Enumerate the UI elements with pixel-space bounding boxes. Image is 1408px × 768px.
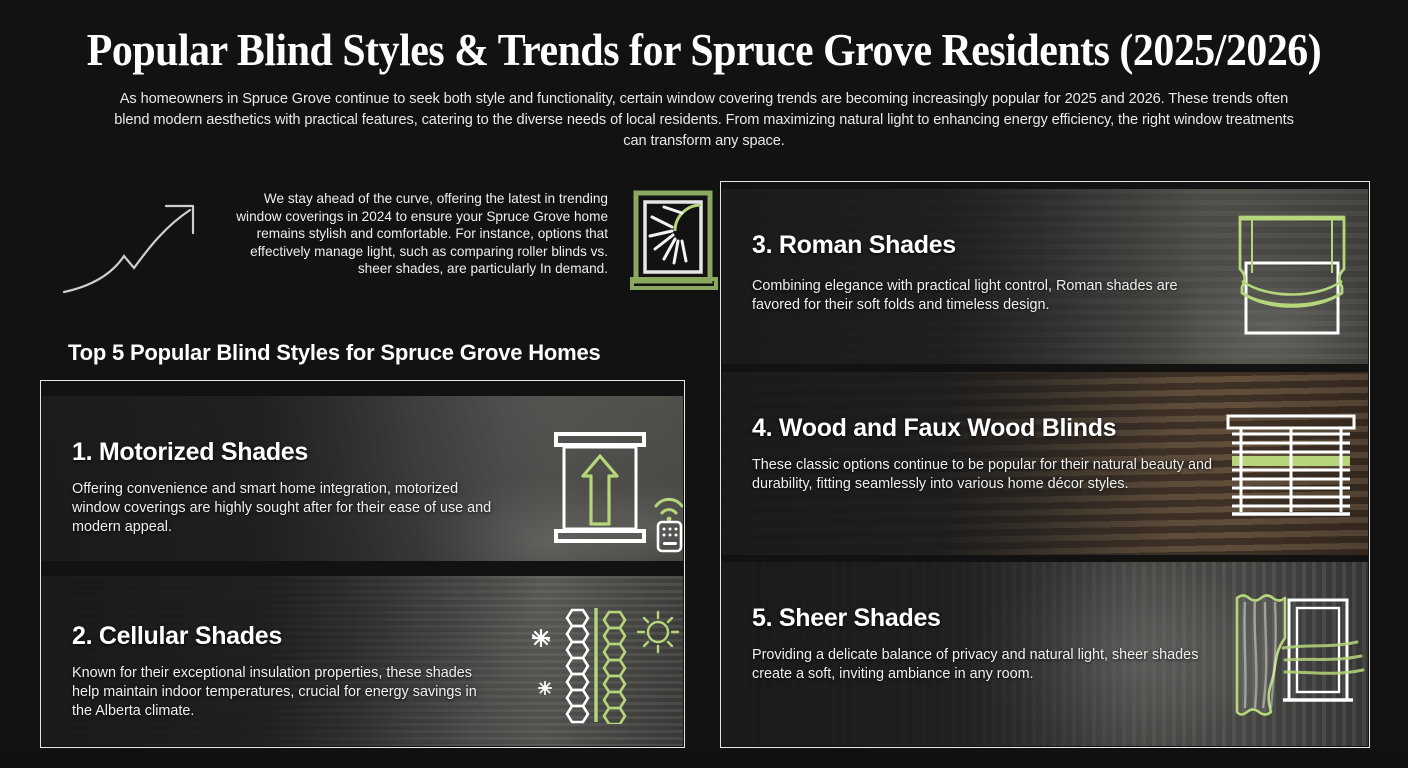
motorized-shade-remote-icon: [542, 428, 683, 553]
page-title: Popular Blind Styles & Trends for Spruce…: [49, 24, 1358, 76]
card-cellular-shades[interactable]: 2. Cellular Shades Known for their excep…: [42, 576, 683, 746]
header: Popular Blind Styles & Trends for Spruce…: [0, 0, 1408, 170]
card-title: 3. Roman Shades: [752, 231, 956, 260]
sheer-curtain-breeze-icon: [1227, 586, 1368, 721]
page-subtitle: As homeowners in Spruce Grove continue t…: [104, 89, 1304, 152]
card-description: Combining elegance with practical light …: [752, 277, 1182, 315]
card-title: 2. Cellular Shades: [72, 622, 282, 651]
card-title: 5. Sheer Shades: [752, 604, 941, 633]
honeycomb-cell-insulation-icon: [527, 604, 683, 724]
bottom-bar: [0, 748, 1408, 768]
card-title: 1. Motorized Shades: [72, 438, 308, 467]
card-wood-faux-wood-blinds[interactable]: 4. Wood and Faux Wood Blinds These class…: [722, 372, 1368, 555]
infographic-page: Popular Blind Styles & Trends for Spruce…: [0, 0, 1408, 768]
section-heading: Top 5 Popular Blind Styles for Spruce Gr…: [68, 340, 601, 366]
card-description: These classic options continue to be pop…: [752, 456, 1212, 494]
intro-text: We stay ahead of the curve, offering the…: [216, 190, 608, 278]
card-description: Offering convenience and smart home inte…: [72, 480, 492, 537]
intro-section: We stay ahead of the curve, offering the…: [40, 182, 690, 312]
card-sheer-shades[interactable]: 5. Sheer Shades Providing a delicate bal…: [722, 562, 1368, 746]
card-description: Providing a delicate balance of privacy …: [752, 646, 1202, 684]
card-motorized-shades[interactable]: 1. Motorized Shades Offering convenience…: [42, 396, 683, 561]
roman-shade-icon: [1222, 211, 1368, 341]
card-title: 4. Wood and Faux Wood Blinds: [752, 414, 1116, 443]
trend-arrow-icon: [62, 190, 212, 300]
card-description: Known for their exceptional insulation p…: [72, 664, 492, 721]
window-sun-icon: [628, 187, 724, 297]
venetian-wood-blind-icon: [1224, 412, 1368, 522]
card-roman-shades[interactable]: 3. Roman Shades Combining elegance with …: [722, 189, 1368, 364]
